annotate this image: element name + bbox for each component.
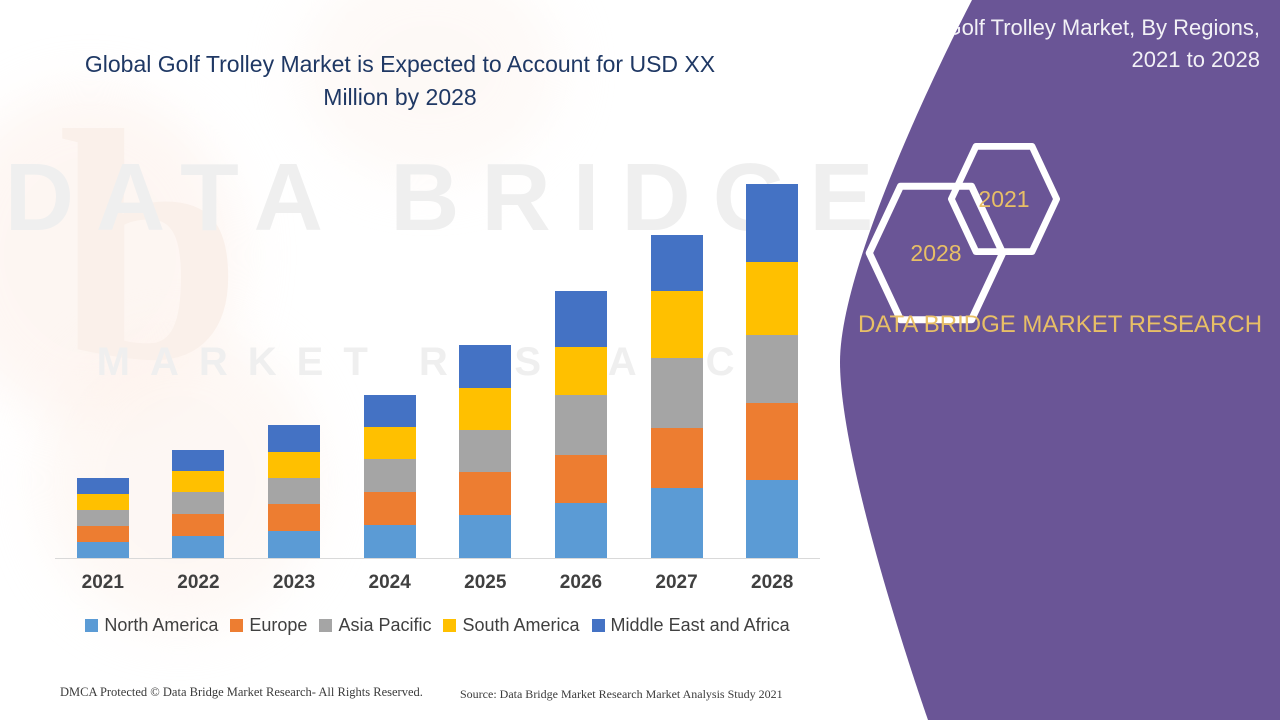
bar-segment[interactable] (364, 459, 416, 492)
bar-segment[interactable] (364, 395, 416, 427)
legend-swatch (592, 619, 605, 632)
bar-group (629, 235, 724, 558)
hexagon-badge-2021: 2021 (948, 143, 1060, 255)
legend-item[interactable]: Asia Pacific (319, 615, 431, 636)
bar-segment[interactable] (459, 430, 511, 472)
chart-title: Global Golf Trolley Market is Expected t… (60, 48, 740, 113)
legend-swatch (319, 619, 332, 632)
bar-segment[interactable] (555, 291, 607, 347)
bar-group (151, 450, 246, 558)
stacked-bar[interactable] (364, 395, 416, 558)
bar-segment[interactable] (459, 345, 511, 388)
bar-group (438, 345, 533, 558)
stacked-bar[interactable] (651, 235, 703, 558)
stacked-bar[interactable] (268, 425, 320, 558)
bar-group (342, 395, 437, 558)
bar-segment[interactable] (651, 358, 703, 428)
bar-group (55, 478, 150, 558)
x-axis-tick-label: 2028 (725, 572, 820, 594)
bar-segment[interactable] (746, 262, 798, 335)
legend-swatch (443, 619, 456, 632)
bar-segment[interactable] (172, 471, 224, 492)
bar-segment[interactable] (172, 492, 224, 514)
bar-segment[interactable] (268, 425, 320, 452)
bar-segment[interactable] (459, 388, 511, 430)
copyright-notice: DMCA Protected © Data Bridge Market Rese… (60, 685, 423, 700)
x-axis-line (55, 558, 820, 559)
bar-segment[interactable] (364, 427, 416, 459)
bar-segment[interactable] (555, 347, 607, 395)
bar-series-container (55, 158, 820, 558)
right-panel-title: Global Golf Trolley Market, By Regions, … (870, 12, 1260, 76)
bar-segment[interactable] (268, 531, 320, 558)
legend-swatch (85, 619, 98, 632)
bar-segment[interactable] (268, 504, 320, 531)
bar-segment[interactable] (268, 478, 320, 504)
bar-segment[interactable] (746, 480, 798, 558)
bar-segment[interactable] (172, 536, 224, 558)
bar-segment[interactable] (459, 515, 511, 558)
bar-segment[interactable] (172, 514, 224, 536)
legend-item[interactable]: North America (85, 615, 218, 636)
x-axis-tick-label: 2026 (533, 572, 628, 594)
legend-label: Europe (249, 615, 307, 636)
bar-segment[interactable] (268, 452, 320, 478)
hexagon-badge-2021-label: 2021 (948, 143, 1060, 255)
legend-item[interactable]: South America (443, 615, 579, 636)
x-axis-tick-label: 2025 (438, 572, 533, 594)
bar-segment[interactable] (555, 455, 607, 503)
x-axis-tick-label: 2022 (151, 572, 246, 594)
source-note: Source: Data Bridge Market Research Mark… (460, 687, 783, 702)
legend-item[interactable]: Europe (230, 615, 307, 636)
bar-segment[interactable] (459, 472, 511, 515)
bar-segment[interactable] (746, 184, 798, 262)
legend-label: Middle East and Africa (611, 615, 790, 636)
hexagon-badges: 2028 2021 (860, 140, 1120, 300)
brand-name: DATA BRIDGE MARKET RESEARCH (850, 308, 1270, 341)
bar-segment[interactable] (77, 542, 129, 558)
bar-segment[interactable] (651, 488, 703, 558)
plot-area (55, 150, 820, 559)
x-axis-tick-label: 2023 (247, 572, 342, 594)
bar-segment[interactable] (364, 492, 416, 525)
bar-segment[interactable] (746, 403, 798, 480)
stacked-bar[interactable] (459, 345, 511, 558)
bar-group (533, 291, 628, 558)
stacked-bar[interactable] (77, 478, 129, 558)
bar-segment[interactable] (555, 395, 607, 455)
bar-segment[interactable] (651, 428, 703, 488)
bar-group (247, 425, 342, 558)
legend-label: South America (462, 615, 579, 636)
bar-segment[interactable] (172, 450, 224, 471)
legend-item[interactable]: Middle East and Africa (592, 615, 790, 636)
bar-segment[interactable] (77, 494, 129, 510)
x-axis-tick-labels: 20212022202320242025202620272028 (55, 572, 820, 594)
stacked-bar[interactable] (172, 450, 224, 558)
x-axis-tick-label: 2027 (629, 572, 724, 594)
bar-segment[interactable] (651, 235, 703, 291)
stacked-bar[interactable] (746, 184, 798, 558)
bar-segment[interactable] (77, 510, 129, 526)
right-brand-panel: Global Golf Trolley Market, By Regions, … (840, 0, 1280, 720)
bar-segment[interactable] (555, 503, 607, 558)
x-axis-tick-label: 2021 (55, 572, 150, 594)
legend-swatch (230, 619, 243, 632)
bar-segment[interactable] (651, 291, 703, 358)
bar-segment[interactable] (364, 525, 416, 558)
chart-panel: b DATA BRIDGE MARKET RESEARCH Global Gol… (0, 0, 900, 720)
bar-segment[interactable] (77, 478, 129, 494)
legend-label: North America (104, 615, 218, 636)
x-axis-tick-label: 2024 (342, 572, 437, 594)
chart-legend: North AmericaEuropeAsia PacificSouth Ame… (55, 615, 820, 636)
stacked-bar[interactable] (555, 291, 607, 558)
bar-group (725, 184, 820, 558)
bar-segment[interactable] (746, 335, 798, 403)
bar-segment[interactable] (77, 526, 129, 542)
legend-label: Asia Pacific (338, 615, 431, 636)
